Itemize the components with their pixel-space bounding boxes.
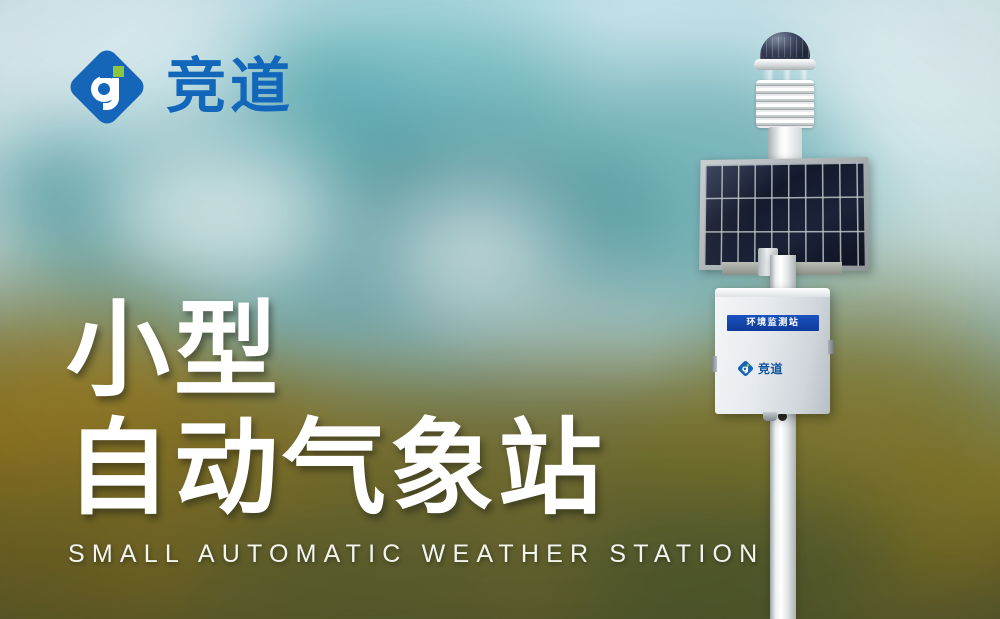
radiation-shield-louvers-icon (756, 80, 814, 128)
control-box-label-band: 环境监测站 (727, 315, 819, 331)
sensor-dome-rim (754, 59, 816, 70)
weather-station-product: 环境监测站 竞道 (660, 0, 920, 619)
control-box-label-text: 环境监测站 (746, 319, 799, 328)
solar-panel-cells (704, 162, 865, 265)
jingdao-diamond-logo-icon (66, 46, 148, 128)
product-hero-banner: 竞道 小型 自动气象站 SMALL AUTOMATIC WEATHER STAT… (0, 0, 1000, 619)
control-box-latch (712, 356, 717, 372)
sensor-dome (760, 32, 810, 62)
control-box-cable-gland (763, 412, 777, 421)
solar-panel-icon (699, 157, 870, 271)
control-box-lid (715, 288, 830, 297)
control-box-brand-name: 竞道 (758, 360, 783, 377)
control-box-brand-lockup: 竞道 (737, 360, 783, 377)
ultrasonic-weather-sensor-icon (746, 32, 824, 152)
headline-line-2: 自动气象站 (66, 416, 606, 520)
brand-lockup: 竞道 (66, 46, 294, 128)
control-box-connector (828, 340, 834, 354)
brand-name: 竞道 (166, 57, 294, 117)
control-box: 环境监测站 竞道 (715, 288, 830, 414)
headline-block: 小型 自动气象站 (66, 298, 606, 520)
jingdao-diamond-logo-icon (737, 360, 754, 377)
headline-line-1: 小型 (66, 298, 606, 402)
